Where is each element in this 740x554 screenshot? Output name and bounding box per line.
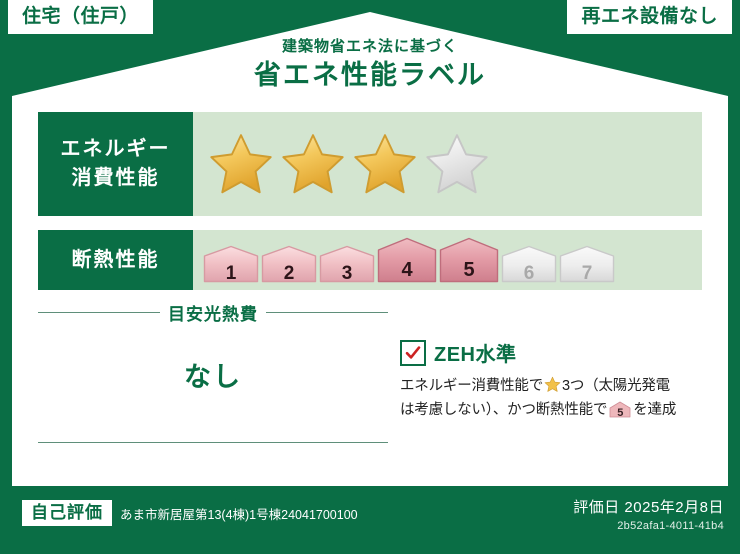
page-title: 省エネ性能ラベル: [0, 59, 740, 93]
house-icon: [377, 237, 437, 283]
zeh-desc-part3: を達成: [633, 402, 676, 418]
utility-cost-block: 目安光熱費 なし: [38, 300, 388, 443]
utility-cost-heading-text: 目安光熱費: [168, 300, 258, 325]
insulation-badge: 5: [609, 401, 631, 427]
insulation-performance-body: 1234567: [193, 230, 702, 290]
utility-cost-value: なし: [38, 355, 388, 394]
zeh-desc-star-count: 3つ（太陽光発電: [562, 378, 670, 394]
label-card: エネルギー 消費性能 断熱性能 1234567 目安光熱費 なし: [20, 100, 720, 478]
star-icon: [423, 131, 491, 197]
zeh-desc-part2: は考慮しない）、かつ断熱性能で: [400, 402, 607, 418]
evaluation-date: 評価日 2025年2月8日: [573, 496, 724, 517]
insulation-level-7: 7: [559, 245, 615, 283]
insulation-level-1: 1: [203, 245, 259, 283]
insulation-level-6: 6: [501, 245, 557, 283]
footer-left: 自己評価 あま市新居屋第13(4棟)1号棟24041700100: [22, 500, 358, 526]
energy-label-line2: 消費性能: [72, 164, 160, 193]
insulation-level-5: 5: [439, 237, 499, 283]
energy-performance-label: エネルギー 消費性能: [38, 112, 193, 216]
building-type-tag: 住宅（住戸）: [8, 0, 153, 34]
energy-label-line1: エネルギー: [61, 135, 171, 164]
zeh-title-row: ZEH水準: [400, 338, 705, 367]
insulation-level-4: 4: [377, 237, 437, 283]
insulation-performance-label: 断熱性能: [38, 230, 193, 290]
zeh-checkbox: [400, 340, 426, 366]
label-footer: 自己評価 あま市新居屋第13(4棟)1号棟24041700100 評価日 202…: [0, 490, 740, 554]
house-icon: [559, 245, 615, 283]
zeh-title: ZEH水準: [434, 338, 517, 367]
zeh-desc-part1: エネルギー消費性能で: [400, 378, 543, 394]
house-icon: [261, 245, 317, 283]
house-icon: [319, 245, 375, 283]
insulation-level-3: 3: [319, 245, 375, 283]
insulation-level-scale: 1234567: [193, 237, 615, 283]
property-name: あま市新居屋第13(4棟)1号棟24041700100: [120, 504, 358, 523]
heading-rule-right: [266, 312, 388, 313]
label-title-block: 建築物省エネ法に基づく 省エネ性能ラベル: [0, 38, 740, 93]
renewable-energy-tag: 再エネ設備なし: [567, 0, 732, 34]
zeh-block: ZEH水準 エネルギー消費性能で 3つ（太陽光発電 は考慮しない）、かつ断熱性能…: [400, 338, 705, 427]
zeh-description: エネルギー消費性能で 3つ（太陽光発電 は考慮しない）、かつ断熱性能で 5 を達…: [400, 375, 705, 427]
house-icon: [501, 245, 557, 283]
footer-right: 評価日 2025年2月8日 2b52afa1-4011-41b4: [573, 496, 724, 532]
house-icon: [203, 245, 259, 283]
utility-cost-heading: 目安光熱費: [38, 300, 388, 325]
star-icon: [279, 131, 347, 197]
check-icon: [405, 345, 421, 361]
house-icon: [439, 237, 499, 283]
title-subtitle: 建築物省エネ法に基づく: [0, 38, 740, 56]
energy-performance-row: エネルギー 消費性能: [38, 112, 702, 216]
star-icon: [207, 131, 275, 197]
star-icon: [544, 376, 561, 393]
utility-cost-bottom-rule: [38, 442, 388, 443]
star-rating: [193, 131, 491, 197]
insulation-level-2: 2: [261, 245, 317, 283]
energy-performance-label: 住宅（住戸） 再エネ設備なし 建築物省エネ法に基づく 省エネ性能ラベル エネルギ…: [0, 0, 740, 554]
insulation-performance-row: 断熱性能 1234567: [38, 230, 702, 290]
house-icon: [609, 401, 631, 418]
self-evaluation-badge: 自己評価: [22, 500, 112, 526]
star-icon: [351, 131, 419, 197]
heading-rule-left: [38, 312, 160, 313]
evaluation-id: 2b52afa1-4011-41b4: [573, 520, 724, 532]
energy-performance-body: [193, 112, 702, 216]
